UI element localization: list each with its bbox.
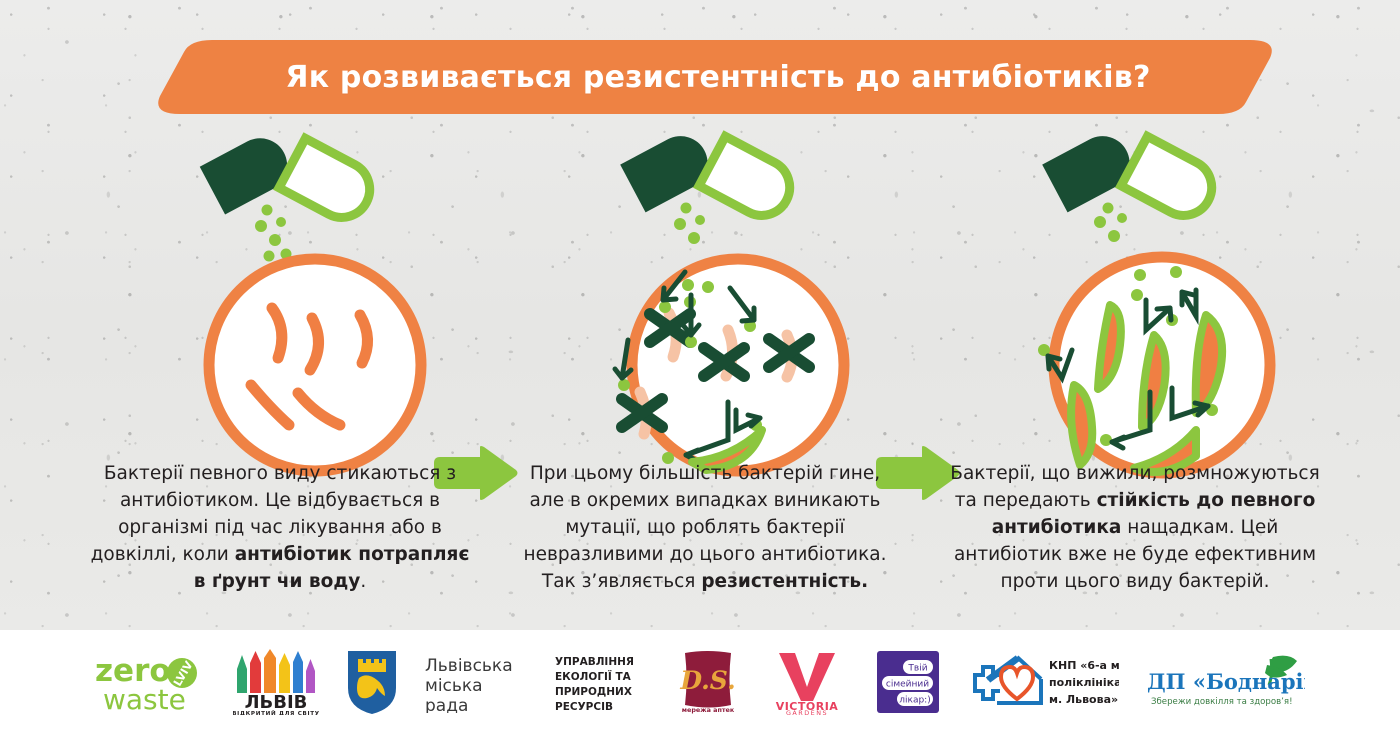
ds-tagline: мережа аптек [682, 706, 735, 714]
polyclinic-line-3: м. Львова» [1049, 693, 1118, 706]
capsule-dark-half [200, 130, 297, 214]
lviv-coat-of-arms-icon [345, 648, 399, 716]
capsule-light-half [1121, 136, 1221, 225]
ds-title: D.S. [679, 666, 735, 695]
council-line-2: міська [425, 676, 483, 696]
victoria-v-icon [779, 653, 835, 701]
capsule-light-half [279, 138, 379, 227]
lviv-city-brand-logo: ЛЬВІВ ВІДКРИТИЙ ДЛЯ СВІТУ [233, 649, 319, 715]
council-line-3: рада [425, 696, 468, 713]
ecology-line-1: УПРАВЛІННЯ [555, 656, 634, 668]
step-2-caption: При цьому більшість бактерій гине, але в… [510, 460, 900, 595]
infographic-root: Як розвивається резистентність до антибі… [0, 0, 1400, 733]
bodnarivka-title: ДП «Боднарівка» [1147, 669, 1305, 694]
family-doctor-bubble-1: Твій [907, 663, 927, 673]
antibiotic-granules [674, 203, 705, 245]
zero-waste-line-2: waste [103, 683, 186, 713]
polyclinic-6-logo: КНП «6-а міська поліклініка м. Львова» [967, 651, 1119, 713]
polyclinic-heart-icon [1001, 667, 1033, 699]
victoria-tagline: GARDENS [786, 709, 828, 715]
lviv-brand-title: ЛЬВІВ [245, 692, 308, 713]
sponsor-logo-bar: zero LVIV waste ЛЬВІВ ВІДКРИТИЙ ДЛЯ СВІТ… [0, 630, 1400, 733]
polyclinic-line-2: поліклініка [1049, 676, 1119, 689]
steps-illustrations [0, 130, 1400, 480]
step-3-illustration [1000, 130, 1330, 480]
ecology-line-4: РЕСУРСІВ [555, 701, 613, 713]
family-doctor-bubble-3: лікар:) [899, 695, 930, 705]
victoria-gardens-logo: VICTORIA GARDENS [765, 649, 849, 715]
step-2-graphic [578, 130, 908, 480]
ecology-line-2: ЕКОЛОГІЇ ТА [555, 669, 632, 683]
title-banner: Як розвивається резистентність до антибі… [150, 38, 1280, 116]
steps-captions: Бактерії певного виду стикаються з антиб… [0, 460, 1400, 610]
step-3-graphic [1000, 130, 1330, 480]
antibiotic-granules [1094, 203, 1127, 243]
step-1-illustration [155, 130, 485, 480]
ecology-line-3: ПРИРОДНИХ [555, 686, 632, 698]
family-doctor-logo: Твій сімейний лікар:) [875, 649, 941, 715]
polyclinic-line-1: КНП «6-а міська [1049, 659, 1119, 672]
ecology-department-logo: УПРАВЛІННЯ ЕКОЛОГІЇ ТА ПРИРОДНИХ РЕСУРСІ… [555, 651, 651, 713]
lviv-city-council-logo: Львівська міська рада [425, 651, 529, 713]
bodnarivka-tagline: Збережи довкілля та здоров’я! [1151, 697, 1293, 707]
step-1-caption: Бактерії певного виду стикаються з антиб… [85, 460, 475, 595]
step-1-graphic [155, 130, 485, 480]
step-2-illustration [578, 130, 908, 480]
capsule-light-half [699, 136, 799, 225]
family-doctor-bubble-2: сімейний [886, 679, 929, 689]
banner-title: Як розвивається резистентність до антибі… [150, 38, 1280, 116]
lviv-towers-icon [237, 649, 315, 693]
council-line-1: Львівська [425, 656, 513, 676]
bodnarivka-logo: ДП «Боднарівка» Збережи довкілля та здор… [1145, 651, 1305, 713]
ds-pharmacy-logo: D.S. мережа аптек [677, 649, 739, 715]
zero-waste-lviv-logo: zero LVIV waste [95, 651, 207, 713]
step-3-caption: Бактерії, що вижили, розмножуються та пе… [940, 460, 1330, 595]
